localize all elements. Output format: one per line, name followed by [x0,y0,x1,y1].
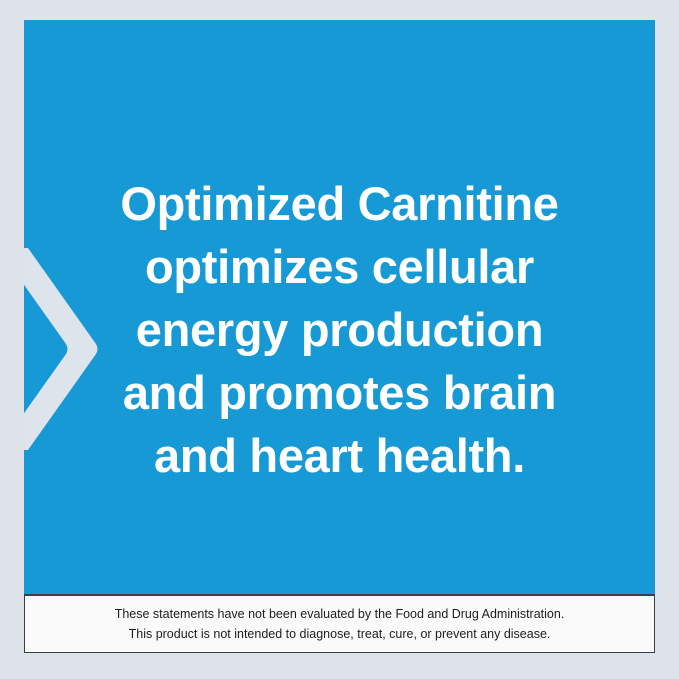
headline-line-5: and heart health. [24,424,655,487]
product-infographic: Optimized Carnitine optimizes cellular e… [0,0,679,679]
headline-line-1: Optimized Carnitine [24,172,655,235]
disclaimer-line-2: This product is not intended to diagnose… [129,624,551,644]
headline-line-2: optimizes cellular [24,235,655,298]
disclaimer-panel: These statements have not been evaluated… [24,594,655,653]
headline-line-3: energy production [24,298,655,361]
headline-line-4: and promotes brain [24,361,655,424]
disclaimer-line-1: These statements have not been evaluated… [115,604,565,624]
hero-panel: Optimized Carnitine optimizes cellular e… [24,20,655,594]
page-title: Optimized Carnitine optimizes cellular e… [24,172,655,487]
